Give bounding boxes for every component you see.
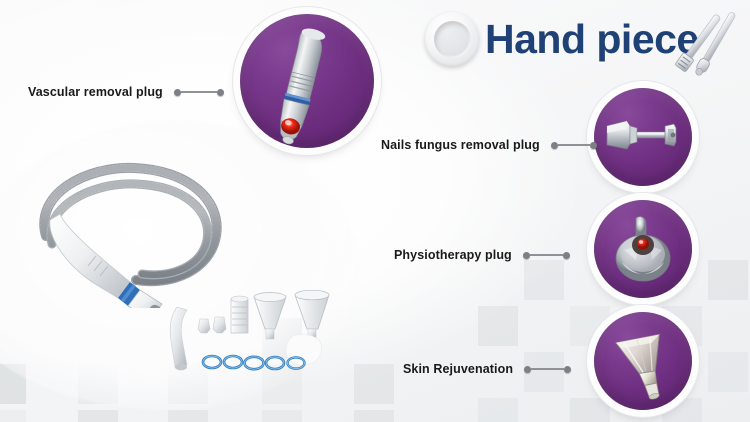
connector-bar: [531, 368, 564, 370]
connector-dot-start: [524, 366, 531, 373]
connector-dot-start: [174, 89, 181, 96]
callout-label-physio: Physiotherapy plug: [394, 248, 512, 262]
laser-handpiece-icon: [240, 14, 374, 148]
skin-rejuvenation-cone-icon: [594, 312, 692, 410]
callout-skin-rejuvenation: Skin Rejuvenation: [403, 362, 571, 376]
callout-vascular-removal-plug: Vascular removal plug: [28, 85, 224, 99]
connector-dot-end: [590, 142, 597, 149]
ring-icon: [425, 12, 479, 66]
connector-line-vascular: [174, 89, 224, 96]
slide-canvas: Hand piece: [0, 0, 750, 422]
physiotherapy-tip-icon: [594, 200, 692, 298]
disc-skin-rejuvenation[interactable]: [594, 312, 692, 410]
connector-dot-end: [563, 252, 570, 259]
connector-bar: [181, 91, 217, 93]
connector-line-nails: [551, 142, 597, 149]
nail-fungus-tip-icon: [594, 88, 692, 186]
callout-nails-fungus-removal-plug: Nails fungus removal plug: [381, 138, 597, 152]
connector-dot-end: [564, 366, 571, 373]
callout-label-vascular: Vascular removal plug: [28, 85, 163, 99]
callout-physiotherapy-plug: Physiotherapy plug: [394, 248, 570, 262]
callout-label-skin: Skin Rejuvenation: [403, 362, 513, 376]
connector-dot-start: [523, 252, 530, 259]
glass-tips-accessories-photo: [155, 285, 335, 390]
disc-vascular-removal-plug[interactable]: [240, 14, 374, 148]
connector-bar: [530, 254, 563, 256]
disc-nails-fungus-removal-plug[interactable]: [594, 88, 692, 186]
callout-label-nails: Nails fungus removal plug: [381, 138, 540, 152]
connector-dot-end: [217, 89, 224, 96]
connector-bar: [558, 144, 590, 146]
handpiece-tools-icon: [652, 6, 744, 90]
connector-line-physio: [523, 252, 570, 259]
disc-physiotherapy-plug[interactable]: [594, 200, 692, 298]
connector-dot-start: [551, 142, 558, 149]
connector-line-skin: [524, 366, 571, 373]
